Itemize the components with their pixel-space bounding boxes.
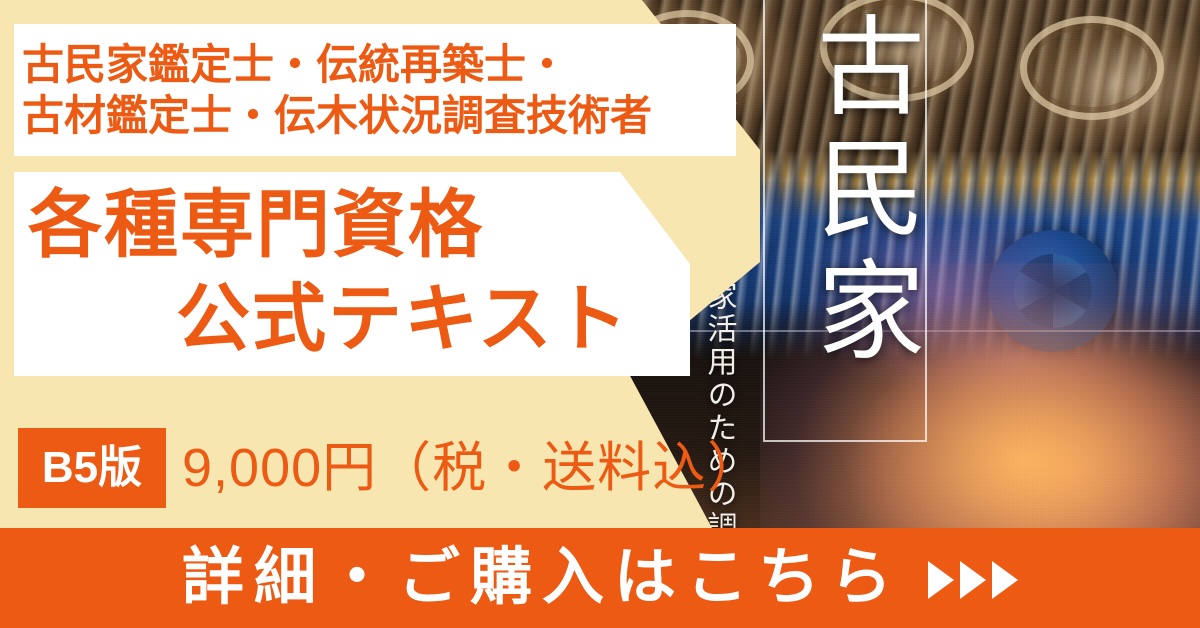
format-badge: B5版 (18, 428, 166, 508)
headline-line-1: 古民家鑑定士・伝統再築士・ (22, 39, 736, 90)
price-label: 9,000円（税・送料込） (182, 432, 762, 504)
play-arrow-icon (928, 561, 954, 599)
promo-banner: 古民家 伝統構法 古民家活用のための調査と再生の 古民家鑑定士・伝統再築士・ 古… (0, 0, 1200, 628)
play-arrow-icon (992, 561, 1018, 599)
cta-label: 詳細・ご購入はこちら (182, 547, 902, 609)
play-arrow-icon (960, 561, 986, 599)
subhead-line-1: 各種専門資格 (28, 188, 484, 262)
format-badge-label: B5版 (42, 446, 142, 490)
subhead-line-2: 公式テキスト (176, 282, 630, 356)
cta-arrows (928, 561, 1018, 599)
headline-text-group: 古民家鑑定士・伝統再築士・ 古材鑑定士・伝木状況調査技術者 (14, 24, 736, 156)
cta-bar[interactable]: 詳細・ご購入はこちら (0, 528, 1200, 628)
headline-line-2: 古材鑑定士・伝木状況調査技術者 (22, 90, 736, 141)
